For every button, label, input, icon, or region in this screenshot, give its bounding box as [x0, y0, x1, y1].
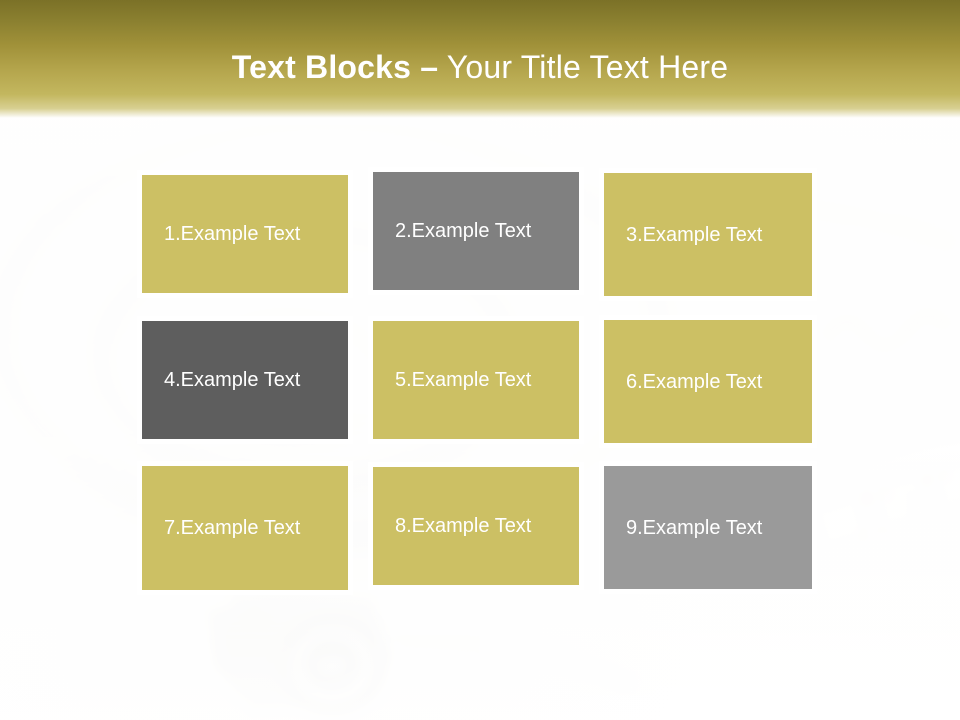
text-block-6-label: 6.Example Text: [626, 370, 762, 394]
page-title: Text Blocks – Your Title Text Here: [0, 48, 960, 86]
text-block-4[interactable]: 4.Example Text: [137, 316, 353, 444]
slide-header: Text Blocks – Your Title Text Here: [0, 0, 960, 118]
text-block-1[interactable]: 1.Example Text: [137, 170, 353, 298]
text-block-2[interactable]: 2.Example Text: [368, 167, 584, 295]
text-block-8[interactable]: 8.Example Text: [368, 462, 584, 590]
page-title-strong: Text Blocks –: [232, 49, 439, 85]
text-block-9-label: 9.Example Text: [626, 516, 762, 540]
text-block-5[interactable]: 5.Example Text: [368, 316, 584, 444]
text-block-5-label: 5.Example Text: [395, 368, 531, 392]
slide-canvas: Text Blocks – Your Title Text Here 1.Exa…: [0, 0, 960, 720]
text-block-2-label: 2.Example Text: [395, 219, 531, 243]
page-title-light: Your Title Text Here: [438, 49, 728, 85]
text-block-9[interactable]: 9.Example Text: [599, 461, 817, 594]
text-block-4-label: 4.Example Text: [164, 368, 300, 392]
text-block-7-label: 7.Example Text: [164, 516, 300, 540]
text-block-8-label: 8.Example Text: [395, 514, 531, 538]
text-block-3[interactable]: 3.Example Text: [599, 168, 817, 301]
text-block-6[interactable]: 6.Example Text: [599, 315, 817, 448]
text-block-3-label: 3.Example Text: [626, 223, 762, 247]
text-block-7[interactable]: 7.Example Text: [137, 461, 353, 595]
text-block-1-label: 1.Example Text: [164, 222, 300, 246]
